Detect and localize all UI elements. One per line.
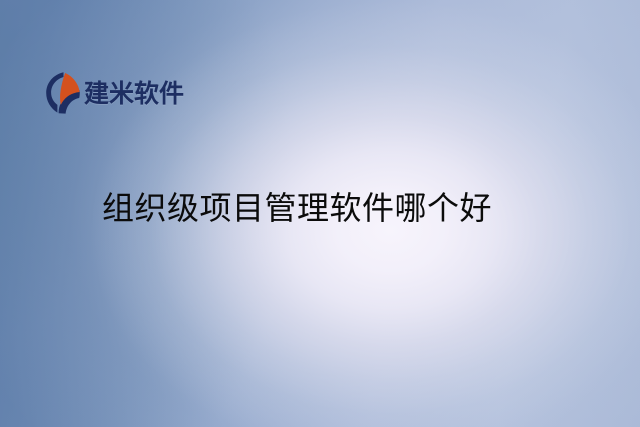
page-title: 组织级项目管理软件哪个好 bbox=[102, 188, 492, 228]
jianmi-sail-logo-icon bbox=[45, 71, 81, 115]
brand-logo-text: 建米软件 bbox=[84, 81, 184, 106]
promo-banner: 建米软件 组织级项目管理软件哪个好 bbox=[0, 0, 640, 427]
brand-logo[interactable]: 建米软件 bbox=[45, 70, 184, 116]
